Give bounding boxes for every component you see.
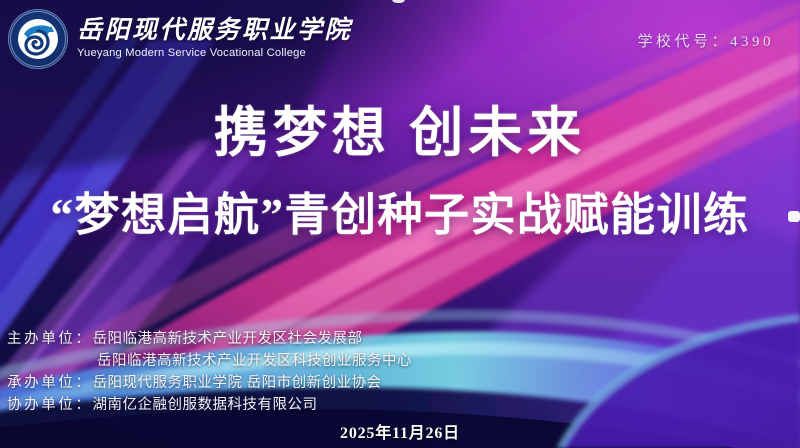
college-name-en: Yueyang Modern Service Vocational Colleg…: [77, 48, 352, 59]
organizer-label-undertaker: 承办单位：: [7, 372, 93, 394]
event-date: 2025年11月26日: [0, 419, 800, 443]
school-code-label: 学校代号：4390: [637, 30, 774, 51]
organizer-value-undertaker: 岳阳现代服务职业学院 岳阳市创新创业协会: [93, 372, 382, 394]
organizer-row-coorganizer: 协办单位：湖南亿企融创服数据科技有限公司: [7, 394, 412, 416]
college-seal-icon: [8, 9, 68, 69]
college-logo: 岳阳现代服务职业学院 Yueyang Modern Service Vocati…: [8, 9, 352, 69]
event-poster: 岳阳现代服务职业学院 Yueyang Modern Service Vocati…: [0, 0, 800, 448]
poster-main-title: 携梦想 创未来: [0, 88, 800, 167]
organizer-value-host-2: 岳阳临港高新技术产业开发区科技创业服务中心: [97, 350, 412, 372]
organizer-row-undertaker: 承办单位：岳阳现代服务职业学院 岳阳市创新创业协会: [7, 372, 412, 394]
organizer-value-coorganizer: 湖南亿企融创服数据科技有限公司: [93, 394, 318, 416]
organizer-value-host-1: 岳阳临港高新技术产业开发区社会发展部: [93, 328, 363, 350]
organizer-label-coorganizer: 协办单位：: [7, 394, 93, 416]
college-name-cn: 岳阳现代服务职业学院: [77, 18, 352, 43]
organizer-row-host-2: 岳阳临港高新技术产业开发区科技创业服务中心: [7, 350, 412, 372]
poster-sub-title: “梦想启航”青创种子实战赋能训练: [0, 178, 800, 243]
college-name-block: 岳阳现代服务职业学院 Yueyang Modern Service Vocati…: [77, 18, 352, 59]
seal-swoosh-icon: [18, 19, 58, 59]
organizer-row-host: 主办单位：岳阳临港高新技术产业开发区社会发展部: [7, 328, 412, 350]
organizer-label-host: 主办单位：: [7, 328, 93, 350]
organizer-list: 主办单位：岳阳临港高新技术产业开发区社会发展部 岳阳临港高新技术产业开发区科技创…: [7, 328, 412, 416]
